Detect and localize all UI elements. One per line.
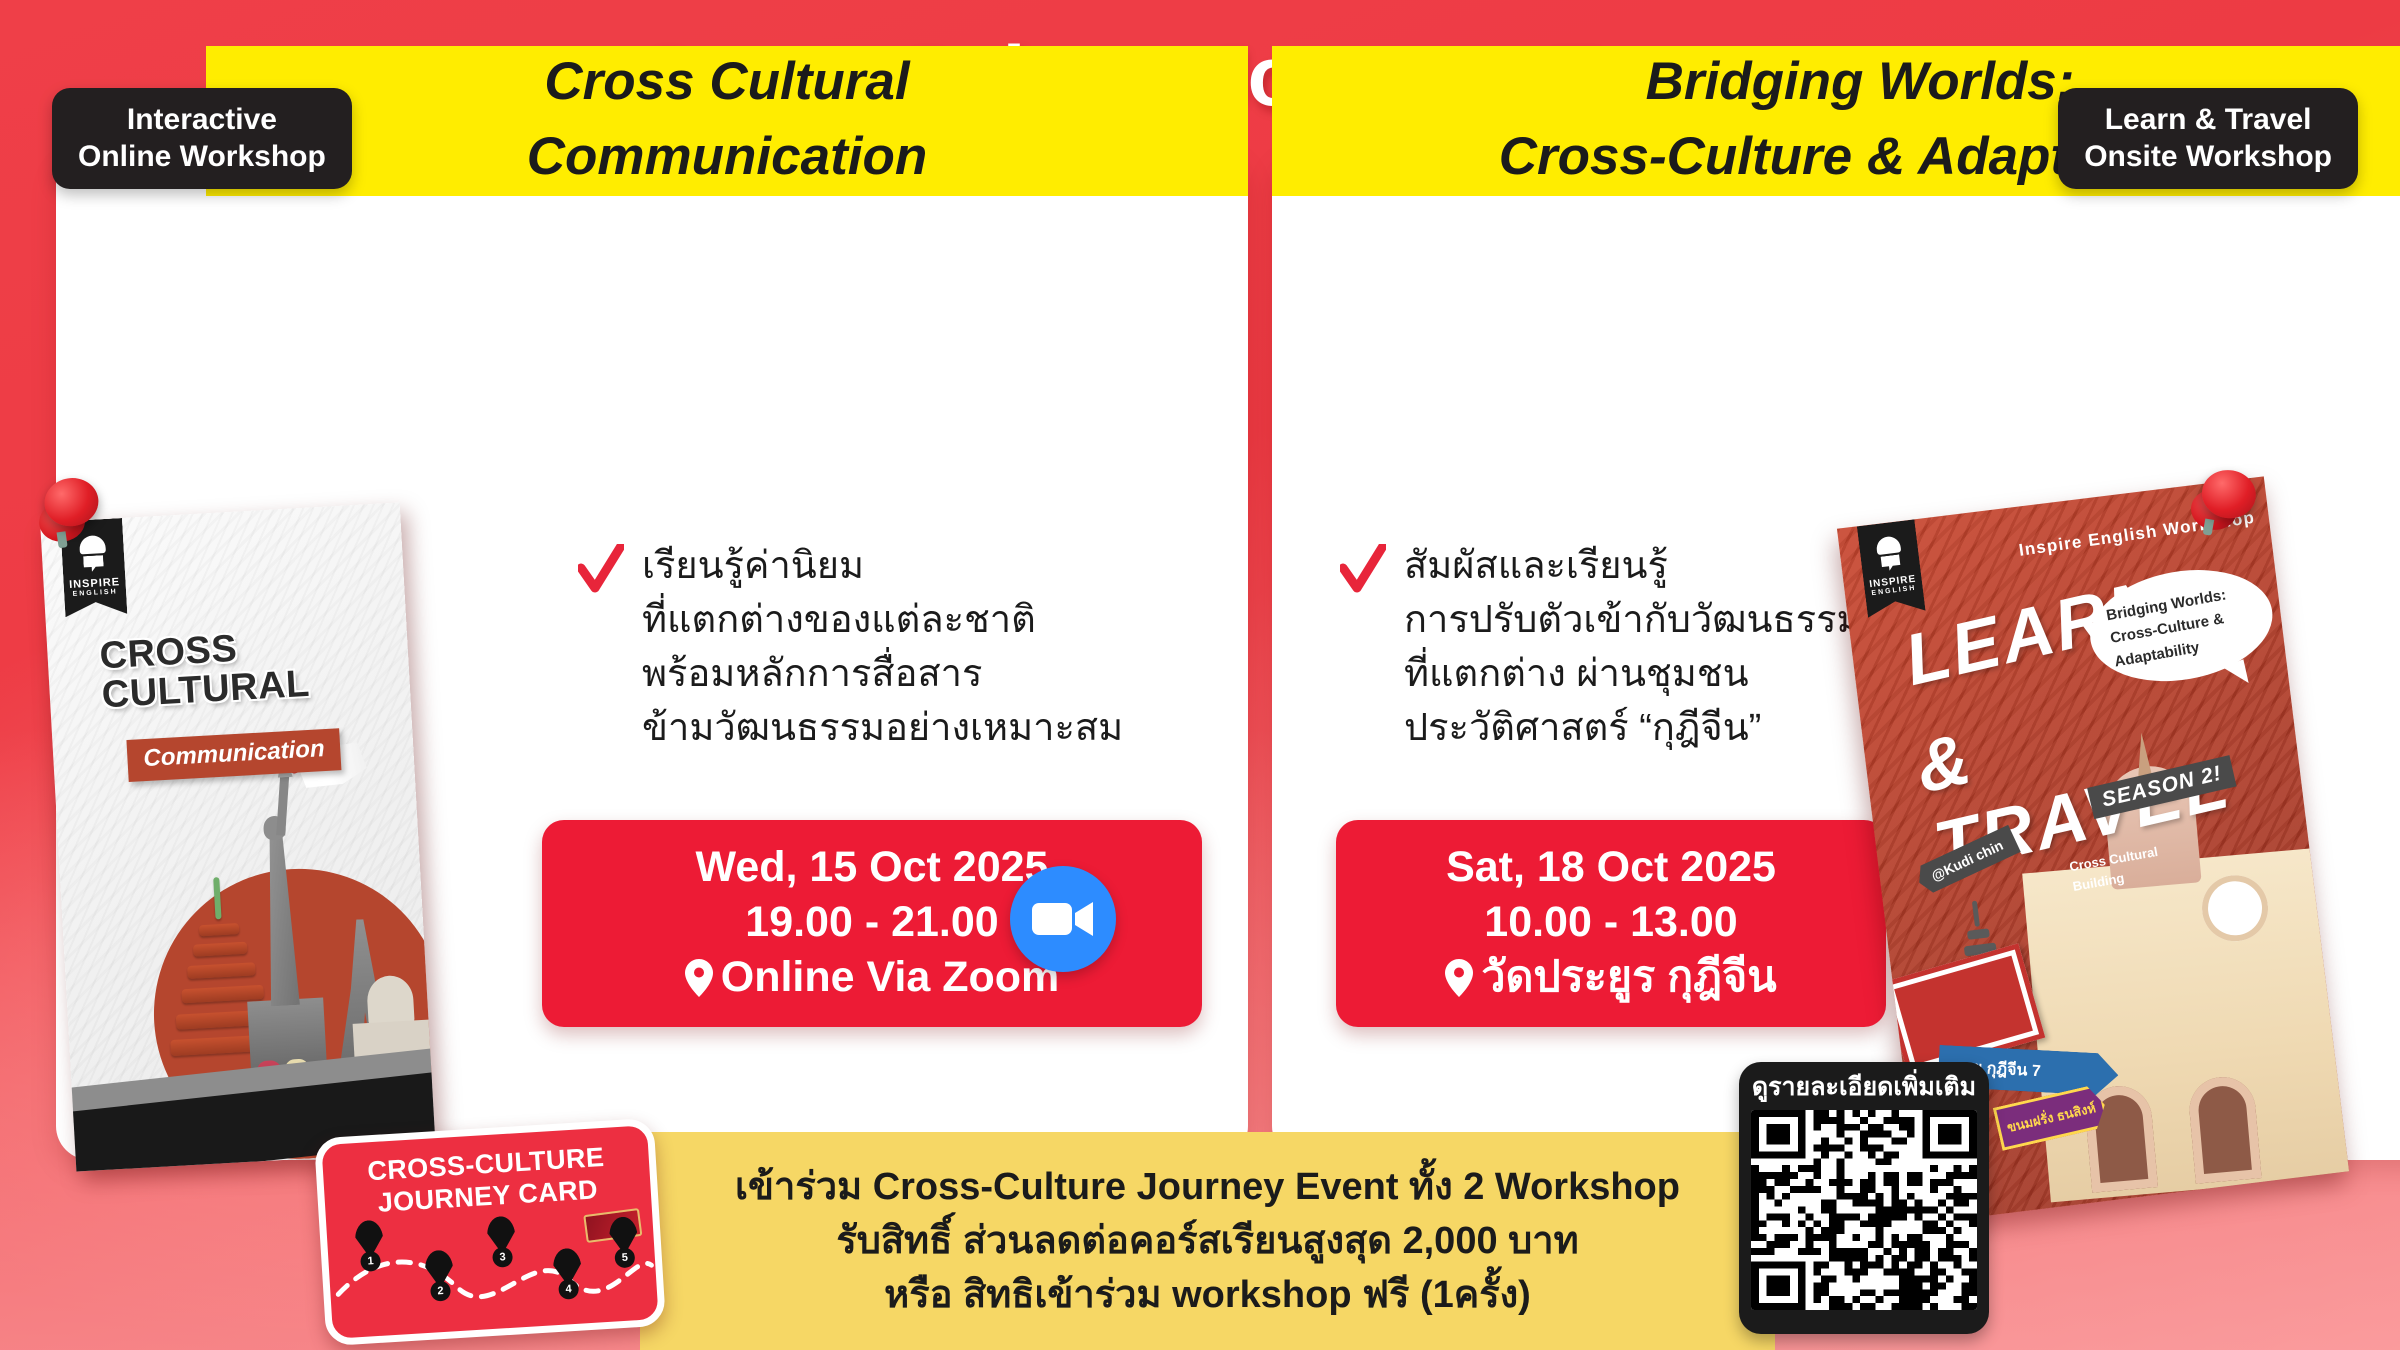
bullet-right-line2: การปรับตัวเข้ากับวัฒนธรรม <box>1404 594 1862 648</box>
speech-bubble-icon <box>1880 554 1901 571</box>
map-pin-icon <box>685 959 713 997</box>
badge-online-workshop: Interactive Online Workshop <box>52 88 352 189</box>
check-icon <box>578 544 624 596</box>
promo-line-2: รับสิทธิ์ ส่วนลดต่อคอร์สเรียนสูงสุด 2,00… <box>836 1216 1578 1266</box>
date-banner-onsite: Sat, 18 Oct 2025 10.00 - 13.00 วัดประยูร… <box>1336 820 1886 1027</box>
qr-code-matrix <box>1751 1110 1977 1310</box>
zoom-camera-icon <box>1010 866 1116 972</box>
badge-onsite-workshop: Learn & Travel Onsite Workshop <box>2058 88 2358 189</box>
speech-bubble-icon <box>83 555 104 572</box>
qr-code-icon[interactable] <box>1751 1110 1977 1310</box>
card-left-bullet-text: เรียนรู้ค่านิยม ที่แตกต่างของแต่ละชาติ พ… <box>642 540 1123 756</box>
cross-culture-journey-card: CROSS-CULTURE JOURNEY CARD 1 2 3 4 5 <box>314 1118 666 1346</box>
stamp-number: 4 <box>558 1279 579 1300</box>
date-onsite: Sat, 18 Oct 2025 <box>1346 840 1876 895</box>
journey-stamp-1: 1 <box>354 1220 384 1260</box>
card-left-heading-line1: Cross Cultural <box>206 46 1248 121</box>
qr-label: ดูรายละเอียดเพิ่มเติม <box>1751 1074 1977 1102</box>
promo-banner: เข้าร่วม Cross-Culture Journey Event ทั้… <box>640 1132 1775 1350</box>
journey-stamp-3: 3 <box>486 1216 516 1256</box>
journey-stamp-2: 2 <box>424 1249 454 1289</box>
journey-stamp-5: 5 <box>608 1216 638 1256</box>
location-onsite-row: วัดประยูร กุฎีจีน <box>1346 950 1876 1005</box>
card-left-heading-line2: Communication <box>206 121 1248 196</box>
bullet-left-line3: พร้อมหลักการสื่อสาร <box>642 648 1123 702</box>
bowler-hat-icon <box>1875 535 1901 555</box>
santa-cruz-church-illustration <box>2022 848 2349 1203</box>
bullet-left-line2: ที่แตกต่างของแต่ละชาติ <box>642 594 1123 648</box>
time-onsite: 10.00 - 13.00 <box>1346 895 1876 950</box>
bullet-left-line1: เรียนรู้ค่านิยม <box>642 540 1123 594</box>
qr-code-block[interactable]: ดูรายละเอียดเพิ่มเติม <box>1739 1062 1989 1334</box>
card-right-bullet-text: สัมผัสและเรียนรู้ การปรับตัวเข้ากับวัฒนธ… <box>1404 540 1862 756</box>
journey-stamp-4: 4 <box>552 1248 582 1288</box>
check-icon <box>1340 544 1386 596</box>
rose-window-icon <box>2199 873 2271 945</box>
badge-left-line2: Online Workshop <box>78 139 326 176</box>
card-right-bullet: สัมผัสและเรียนรู้ การปรับตัวเข้ากับวัฒนธ… <box>1340 540 1900 756</box>
bullet-left-line4: ข้ามวัฒนธรรมอย่างเหมาะสม <box>642 702 1123 756</box>
video-camera-glyph <box>1031 899 1095 939</box>
promo-line-1: เข้าร่วม Cross-Culture Journey Event ทั้… <box>735 1162 1680 1212</box>
badge-left-line1: Interactive <box>78 102 326 139</box>
bullet-right-line4: ประวัติศาสตร์ “กุฎีจีน” <box>1404 702 1862 756</box>
badge-right-line2: Onsite Workshop <box>2084 139 2332 176</box>
bullet-right-line1: สัมผัสและเรียนรู้ <box>1404 540 1862 594</box>
bullet-right-line3: ที่แตกต่าง ผ่านชุมชน <box>1404 648 1862 702</box>
location-onsite: วัดประยูร กุฎีจีน <box>1481 950 1776 1005</box>
map-pin-icon <box>1445 959 1473 997</box>
flyer-cross-cultural-communication: INSPIRE ENGLISH CROSS CULTURAL Communica… <box>40 502 436 1171</box>
journey-card-title: CROSS-CULTURE JOURNEY CARD <box>322 1139 651 1222</box>
push-pin-left <box>33 473 112 552</box>
badge-right-line1: Learn & Travel <box>2084 102 2332 139</box>
promo-line-3: หรือ สิทธิเข้าร่วม workshop ฟรี (1ครั้ง) <box>884 1270 1531 1320</box>
inspire-english-logo: INSPIRE ENGLISH <box>1857 519 1926 617</box>
card-left-bullet: เรียนรู้ค่านิยม ที่แตกต่างของแต่ละชาติ พ… <box>578 540 1178 756</box>
location-online: Online Via Zoom <box>721 950 1059 1005</box>
push-pin-right <box>2186 464 2267 545</box>
